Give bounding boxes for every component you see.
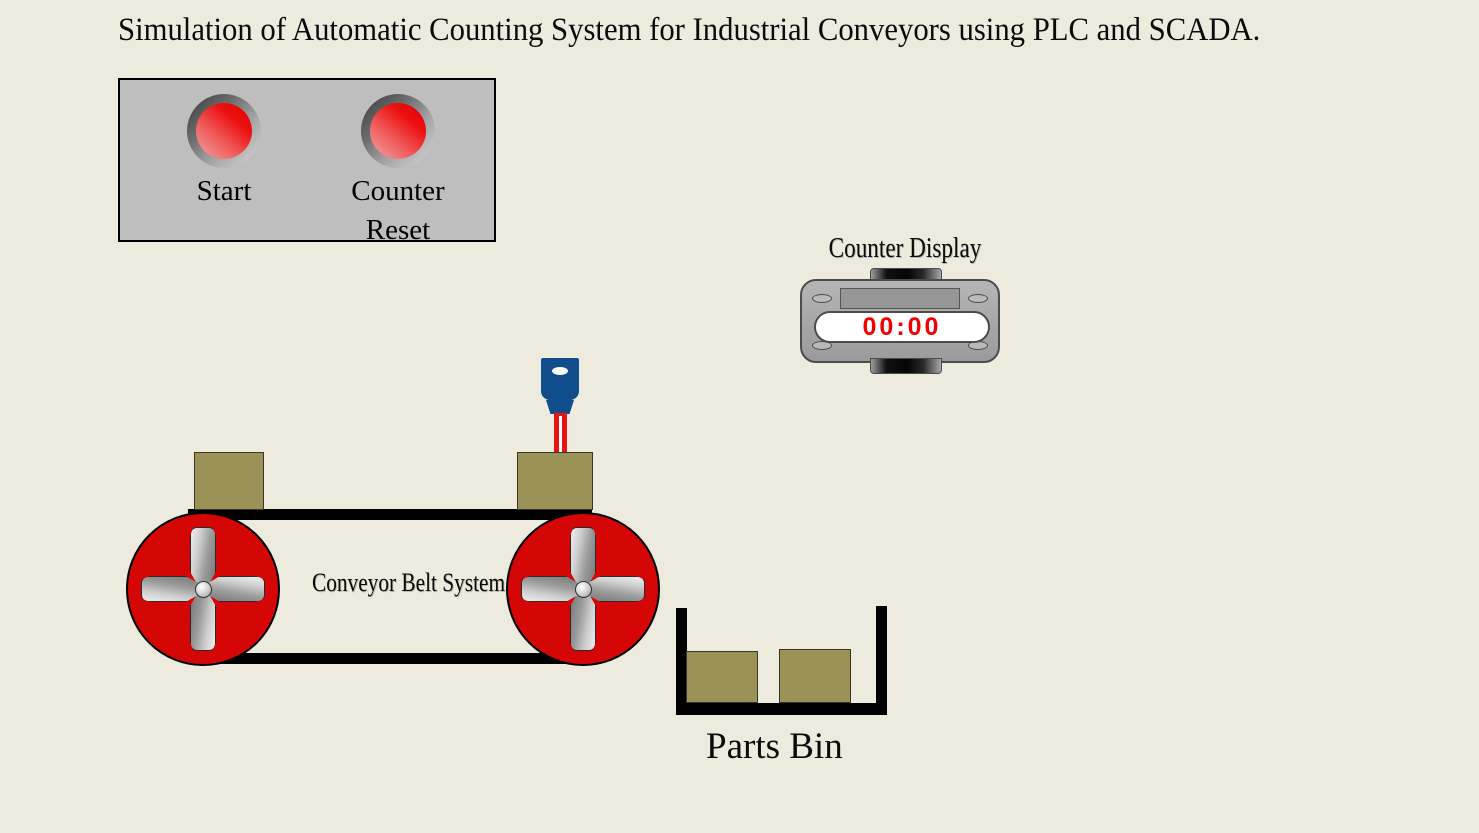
page-title: Simulation of Automatic Counting System … xyxy=(118,12,1355,49)
pulley-blade xyxy=(190,589,216,651)
button-lamp xyxy=(196,103,252,159)
counter-reset-label-line2: Reset xyxy=(366,214,430,246)
simulation-canvas: Simulation of Automatic Counting System … xyxy=(0,0,1479,833)
screw-icon xyxy=(812,294,832,303)
sensor-body xyxy=(541,358,579,400)
conveyor-pulley-left xyxy=(126,512,280,666)
control-panel: Start Counter Reset xyxy=(118,78,496,242)
round-pushbutton-icon[interactable] xyxy=(361,94,435,168)
counter-value: 00:00 xyxy=(863,315,942,340)
counter-display-device: 00:00 xyxy=(800,279,1000,363)
part-box-on-belt xyxy=(517,452,593,510)
pulley-blade xyxy=(570,527,596,589)
counter-inset-strip xyxy=(840,288,960,309)
parts-bin-wall-right xyxy=(876,606,887,713)
counter-reset-label-line1: Counter xyxy=(351,175,444,207)
parts-bin-label: Parts Bin xyxy=(706,725,843,768)
counter-screen: 00:00 xyxy=(814,311,990,343)
counter-reset-button-label: Counter Reset xyxy=(310,172,486,250)
pulley-hub xyxy=(575,581,592,598)
pulley-blade xyxy=(190,527,216,589)
screw-icon xyxy=(968,294,988,303)
sensor-lens-icon xyxy=(550,365,570,377)
counter-bezel-bottom xyxy=(870,358,942,374)
conveyor-pulley-right xyxy=(506,512,660,666)
part-box-in-bin xyxy=(686,651,758,703)
pulley-blade xyxy=(521,576,583,602)
photoelectric-sensor-icon xyxy=(541,358,579,443)
parts-bin-floor xyxy=(676,703,887,715)
counter-body: 00:00 xyxy=(800,279,1000,363)
pulley-blade xyxy=(570,589,596,651)
start-button[interactable]: Start xyxy=(136,94,312,211)
part-box-in-bin xyxy=(779,649,851,703)
counter-display-title: Counter Display xyxy=(821,232,989,265)
round-pushbutton-icon[interactable] xyxy=(187,94,261,168)
start-button-label: Start xyxy=(136,172,312,211)
conveyor-belt-top xyxy=(188,509,592,520)
counter-reset-button[interactable]: Counter Reset xyxy=(310,94,486,250)
sensor-neck xyxy=(546,400,574,414)
pulley-hub xyxy=(195,581,212,598)
part-box-on-belt xyxy=(194,452,264,510)
button-lamp xyxy=(370,103,426,159)
pulley-blade xyxy=(203,576,265,602)
counter-display: Counter Display 00:00 xyxy=(800,232,1010,363)
pulley-blade xyxy=(141,576,203,602)
conveyor-label: Conveyor Belt System xyxy=(312,568,505,598)
conveyor-belt-bottom xyxy=(188,653,592,664)
pulley-blade xyxy=(583,576,645,602)
